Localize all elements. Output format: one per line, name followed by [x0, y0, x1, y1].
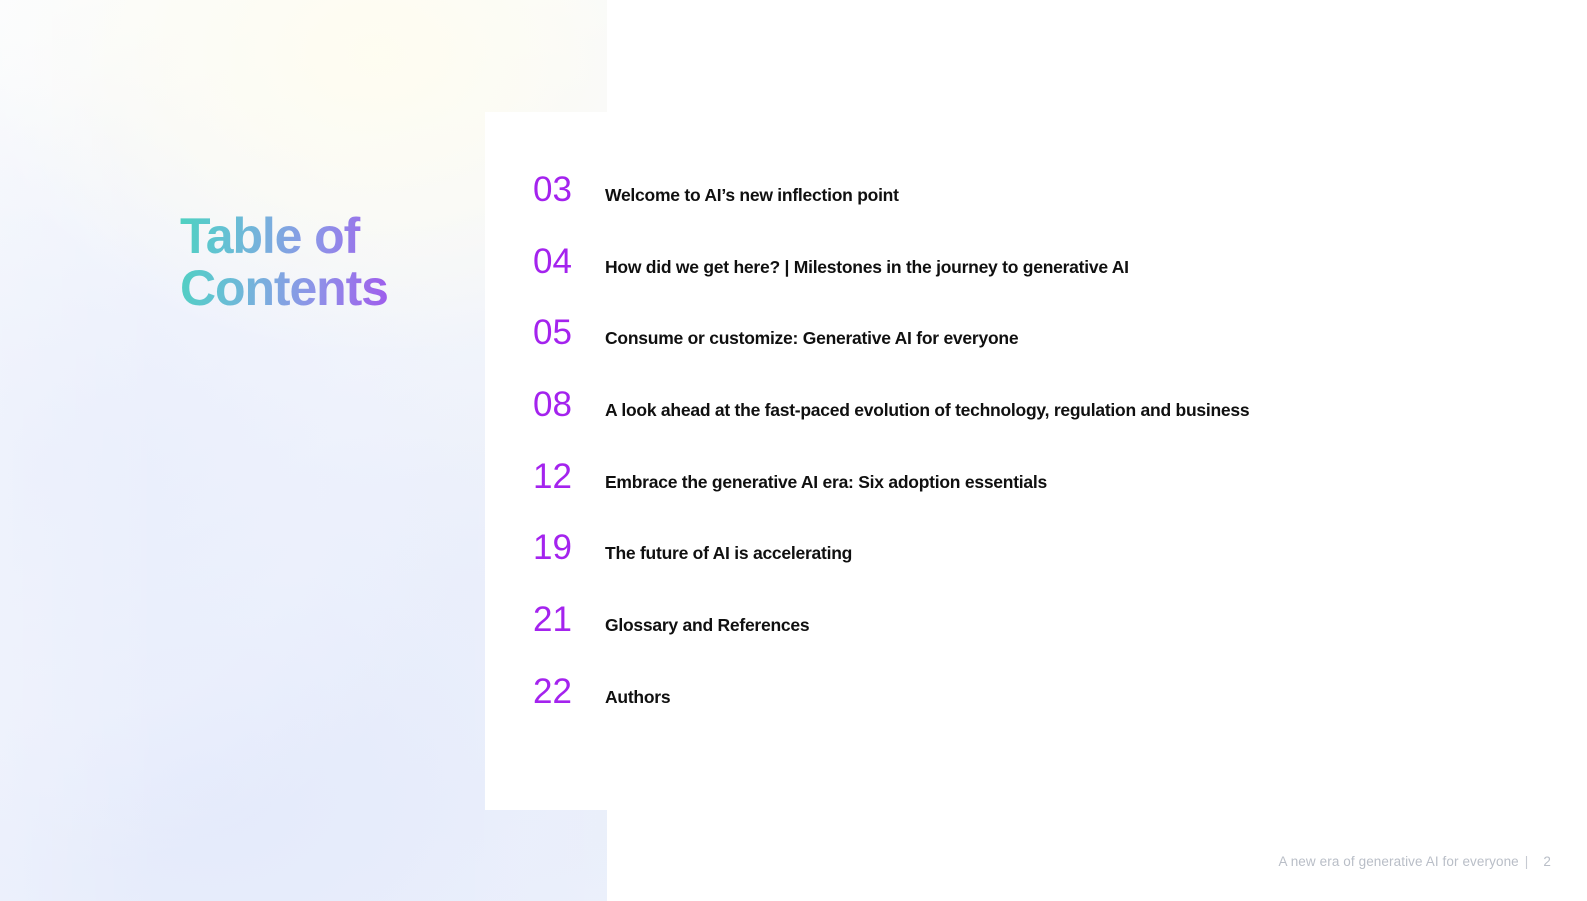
toc-entry[interactable]: 21 Glossary and References [533, 602, 1533, 674]
toc-entry[interactable]: 22 Authors [533, 674, 1533, 746]
toc-entry-page-number: 03 [533, 172, 605, 207]
footer-document-title: A new era of generative AI for everyone [1278, 854, 1518, 869]
toc-entry-title: Welcome to AI’s new inflection point [605, 187, 1533, 205]
toc-entry-title: The future of AI is accelerating [605, 545, 1533, 563]
toc-entry[interactable]: 12 Embrace the generative AI era: Six ad… [533, 459, 1533, 531]
footer-page-number: 2 [1535, 854, 1551, 869]
toc-entry[interactable]: 04 How did we get here? | Milestones in … [533, 244, 1533, 316]
toc-entry-title: How did we get here? | Milestones in the… [605, 259, 1533, 277]
toc-entry-title: Authors [605, 689, 1533, 707]
page-title: Table of Contents [180, 210, 480, 314]
toc-entry-page-number: 04 [533, 244, 605, 279]
toc-entry-page-number: 08 [533, 387, 605, 422]
toc-entry-page-number: 12 [533, 459, 605, 494]
toc-entry-title: A look ahead at the fast-paced evolution… [605, 402, 1533, 420]
toc-entry-title: Consume or customize: Generative AI for … [605, 330, 1533, 348]
footer: A new era of generative AI for everyone … [1278, 854, 1551, 869]
toc-entry-title: Embrace the generative AI era: Six adopt… [605, 474, 1533, 492]
toc-entry[interactable]: 05 Consume or customize: Generative AI f… [533, 315, 1533, 387]
footer-separator: | [1525, 854, 1529, 869]
toc-entry-page-number: 21 [533, 602, 605, 637]
toc-entry[interactable]: 03 Welcome to AI’s new inflection point [533, 172, 1533, 244]
toc-entry[interactable]: 08 A look ahead at the fast-paced evolut… [533, 387, 1533, 459]
slide-table-of-contents: Table of Contents 03 Welcome to AI’s new… [0, 0, 1587, 901]
toc-entry[interactable]: 19 The future of AI is accelerating [533, 530, 1533, 602]
toc-entry-page-number: 19 [533, 530, 605, 565]
toc-list: 03 Welcome to AI’s new inflection point … [533, 172, 1533, 746]
toc-entry-title: Glossary and References [605, 617, 1533, 635]
toc-entry-page-number: 22 [533, 674, 605, 709]
toc-entry-page-number: 05 [533, 315, 605, 350]
